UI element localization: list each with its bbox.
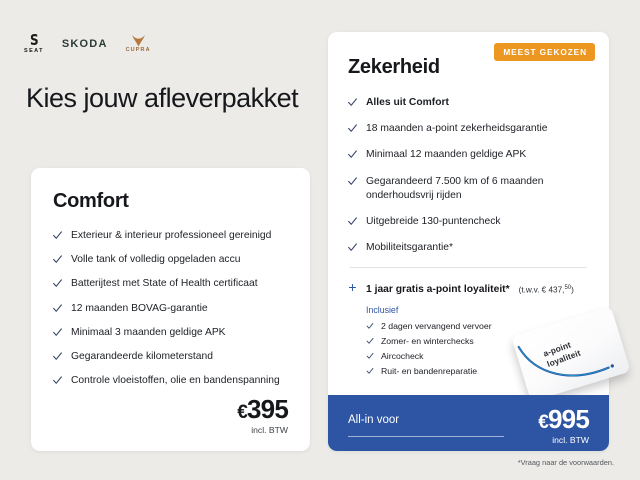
list-item-label: Exterieur & interieur professioneel gere… xyxy=(71,229,271,243)
plus-icon: + xyxy=(348,280,357,294)
list-item: Minimaal 3 maanden geldige APK xyxy=(53,326,288,340)
list-item: Exterieur & interieur professioneel gere… xyxy=(53,229,288,243)
list-item: Gegarandeerd 7.500 km of 6 maanden onder… xyxy=(348,175,589,203)
list-item-label: Zomer- en winterchecks xyxy=(381,336,474,346)
list-item-label: Alles uit Comfort xyxy=(366,96,449,110)
brand-logo-strip: S SEAT SKODA CUPRA xyxy=(24,32,151,56)
loyalty-value-prefix: (t.w.v. € 437, xyxy=(519,285,565,294)
check-icon xyxy=(366,337,374,346)
inclusief-label: Inclusief xyxy=(366,305,589,315)
package-card-zekerheid[interactable]: MEEST GEKOZEN Zekerheid Alles uit Comfor… xyxy=(328,32,609,451)
check-icon xyxy=(348,97,357,109)
list-item-label: Gegarandeerd 7.500 km of 6 maanden onder… xyxy=(366,175,589,203)
list-item-label: Minimaal 3 maanden geldige APK xyxy=(71,326,226,340)
list-item: Volle tank of volledig opgeladen accu xyxy=(53,253,288,267)
comfort-title: Comfort xyxy=(53,190,288,213)
check-icon xyxy=(348,242,357,254)
footer-rule xyxy=(348,436,504,437)
check-icon xyxy=(53,230,62,242)
list-item-label: Mobiliteitsgarantie* xyxy=(366,241,453,255)
list-item-label: Gegarandeerde kilometerstand xyxy=(71,350,213,364)
loyalty-value-suffix: ) xyxy=(571,285,574,294)
check-icon xyxy=(366,352,374,361)
package-card-comfort[interactable]: Comfort Exterieur & interieur profession… xyxy=(31,168,310,451)
list-item: Batterijtest met State of Health certifi… xyxy=(53,277,288,291)
list-item: Mobiliteitsgarantie* xyxy=(348,241,589,255)
zekerheid-feature-list: Alles uit Comfort 18 maanden a-point zek… xyxy=(348,96,589,255)
page-title: Kies jouw afleverpakket xyxy=(26,82,306,115)
check-icon xyxy=(348,149,357,161)
list-item: Uitgebreide 130-puntencheck xyxy=(348,215,589,229)
check-icon xyxy=(348,123,357,135)
check-icon xyxy=(348,176,357,188)
zekerheid-price-block: €995 incl. BTW xyxy=(538,406,589,445)
list-item-label: 12 maanden BOVAG-garantie xyxy=(71,302,208,316)
comfort-price-block: €395 incl. BTW xyxy=(237,396,288,435)
check-icon xyxy=(366,367,374,376)
cupra-logo: CUPRA xyxy=(126,34,151,54)
section-divider xyxy=(350,267,587,268)
currency-symbol: € xyxy=(538,412,548,433)
price-amount: 995 xyxy=(548,404,589,434)
seat-logo: S SEAT xyxy=(24,33,44,55)
list-item: Alles uit Comfort xyxy=(348,96,589,110)
list-item: 12 maanden BOVAG-garantie xyxy=(53,302,288,316)
list-item-label: Aircocheck xyxy=(381,351,424,361)
check-icon xyxy=(53,254,62,266)
comfort-price-note: incl. BTW xyxy=(237,425,288,435)
zekerheid-price-note: incl. BTW xyxy=(538,435,589,445)
cupra-wordmark: CUPRA xyxy=(126,48,151,54)
list-item-label: Volle tank of volledig opgeladen accu xyxy=(71,253,240,267)
loyalty-bonus-label: 1 jaar gratis a-point loyaliteit* xyxy=(366,284,510,295)
list-item-label: 18 maanden a-point zekerheidsgarantie xyxy=(366,122,547,136)
list-item-label: Ruit- en bandenreparatie xyxy=(381,366,477,376)
footnote: *Vraag naar de voorwaarden. xyxy=(518,458,614,467)
list-item: Gegarandeerde kilometerstand xyxy=(53,350,288,364)
zekerheid-price-footer: All-in voor €995 incl. BTW xyxy=(328,395,609,451)
list-item-label: Controle vloeistoffen, olie en bandenspa… xyxy=(71,374,280,388)
list-item-label: Batterijtest met State of Health certifi… xyxy=(71,277,258,291)
check-icon xyxy=(53,303,62,315)
check-icon xyxy=(366,322,374,331)
loyalty-bonus-row: + 1 jaar gratis a-point loyaliteit* (t.w… xyxy=(348,280,589,295)
price-amount: 395 xyxy=(247,394,288,424)
seat-mark-icon: S xyxy=(30,33,38,48)
list-item: Controle vloeistoffen, olie en bandenspa… xyxy=(53,374,288,388)
comfort-feature-list: Exterieur & interieur professioneel gere… xyxy=(53,229,288,388)
zekerheid-title: Zekerheid xyxy=(348,56,589,79)
check-icon xyxy=(348,216,357,228)
allin-label: All-in voor xyxy=(348,414,399,426)
list-item: 18 maanden a-point zekerheidsgarantie xyxy=(348,122,589,136)
check-icon xyxy=(53,278,62,290)
check-icon xyxy=(53,375,62,387)
comfort-price: €395 xyxy=(237,396,288,422)
currency-symbol: € xyxy=(237,402,247,423)
list-item-label: Uitgebreide 130-puntencheck xyxy=(366,215,501,229)
list-item-label: Minimaal 12 maanden geldige APK xyxy=(366,148,526,162)
check-icon xyxy=(53,351,62,363)
loyalty-bonus-value: (t.w.v. € 437,50) xyxy=(519,285,574,295)
seat-wordmark: SEAT xyxy=(24,49,44,55)
check-icon xyxy=(53,327,62,339)
list-item-label: 2 dagen vervangend vervoer xyxy=(381,321,492,331)
list-item: Minimaal 12 maanden geldige APK xyxy=(348,148,589,162)
skoda-logo: SKODA xyxy=(62,38,108,50)
cupra-mark-icon xyxy=(131,34,146,47)
zekerheid-price: €995 xyxy=(538,406,589,432)
